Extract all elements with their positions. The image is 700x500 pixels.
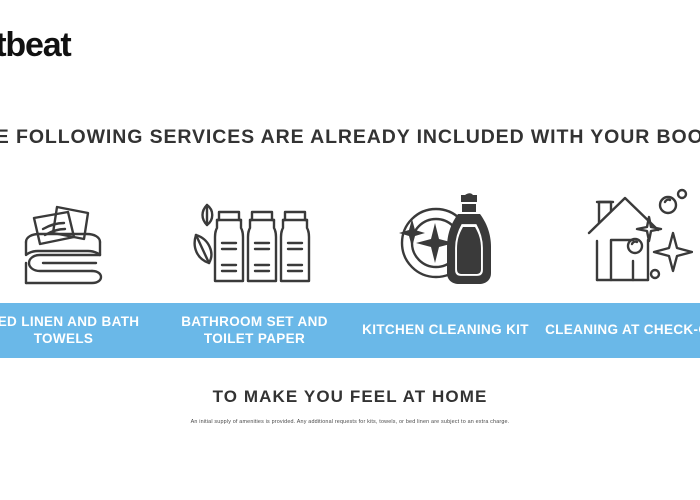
footer-tagline: TO MAKE YOU FEEL AT HOME bbox=[0, 388, 700, 405]
dish-soap-and-plate-icon bbox=[392, 185, 500, 289]
service-icon-cell-2 bbox=[159, 178, 350, 296]
service-label-bathroom-set: BATHROOM SET AND TOILET PAPER bbox=[159, 314, 350, 347]
brand-logo: rentbeat bbox=[0, 28, 71, 62]
service-label-cell-2: BATHROOM SET AND TOILET PAPER bbox=[159, 303, 350, 358]
service-label-band: BED LINEN AND BATH TOWELS BATHROOM SET A… bbox=[0, 303, 700, 358]
footer-disclaimer: An initial supply of amenities is provid… bbox=[0, 419, 700, 425]
sparkling-house-icon bbox=[581, 185, 693, 289]
service-label-cell-1: BED LINEN AND BATH TOWELS bbox=[0, 303, 159, 358]
page-title: THE FOLLOWING SERVICES ARE ALREADY INCLU… bbox=[0, 128, 700, 148]
toiletry-bottles-icon bbox=[189, 185, 321, 289]
service-label-bed-linen: BED LINEN AND BATH TOWELS bbox=[0, 314, 159, 347]
promo-graphic: rentbeat THE FOLLOWING SERVICES ARE ALRE… bbox=[0, 0, 700, 500]
service-label-cleaning-checkout: CLEANING AT CHECK-OUT bbox=[545, 322, 700, 338]
service-label-kitchen-kit: KITCHEN CLEANING KIT bbox=[362, 322, 529, 338]
service-icon-cell-3 bbox=[350, 178, 541, 296]
service-icon-row bbox=[0, 178, 700, 296]
towels-and-pillows-icon bbox=[12, 185, 116, 289]
service-icon-cell-4 bbox=[541, 178, 700, 296]
service-label-cell-4: CLEANING AT CHECK-OUT bbox=[541, 303, 700, 358]
service-icon-cell-1 bbox=[0, 178, 159, 296]
service-label-cell-3: KITCHEN CLEANING KIT bbox=[350, 303, 541, 358]
